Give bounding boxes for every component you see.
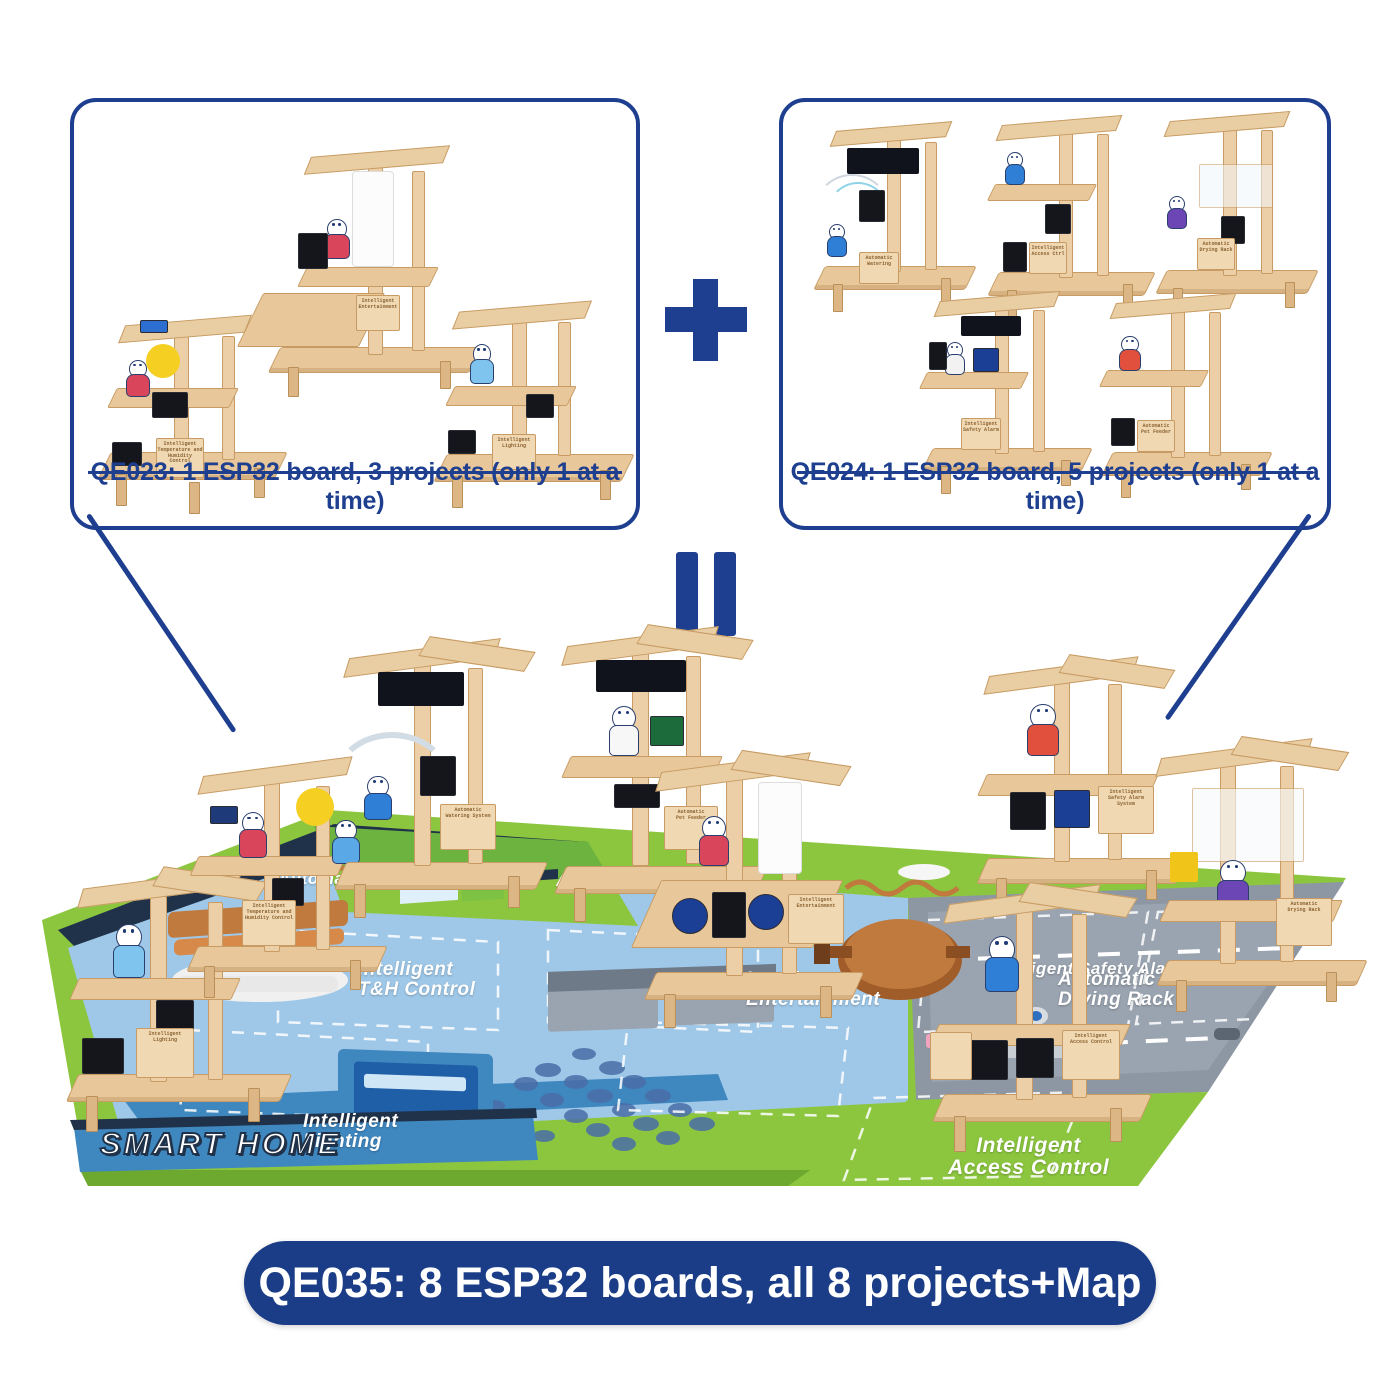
callout-qe023-label: QE023: 1 ESP32 board, 3 projects (only 1… [74, 458, 636, 516]
map-kit-access-control: IntelligentAccess Control [924, 880, 1154, 1150]
equals-operator: = [672, 552, 752, 636]
equals-bar-2 [714, 552, 736, 636]
kit-tag-th: IntelligentTemperature andHumidity Contr… [242, 900, 296, 946]
character-figure [124, 360, 150, 396]
smart-home-play-map: A Automatic Watering System Automatic Pe… [28, 630, 1372, 1200]
map-kit-watering: AutomaticWatering System [328, 636, 548, 916]
kit-tag-access: IntelligentAccess Control [1062, 1030, 1120, 1080]
callout-qe024: AutomaticWatering IntelligentAccess Ctrl [779, 98, 1331, 530]
product-banner-text: QE035: 8 ESP32 boards, all 8 projects+Ma… [258, 1259, 1141, 1308]
kit-tag-drying: AutomaticDrying Rack [1276, 898, 1332, 946]
product-banner: QE035: 8 ESP32 boards, all 8 projects+Ma… [244, 1241, 1156, 1325]
callout-qe024-label: QE024: 1 ESP32 board, 5 projects (only 1… [783, 458, 1327, 516]
plus-operator: + [655, 270, 755, 370]
map-kit-entertainment: IntelligentEntertainment [636, 750, 866, 1020]
kit-tag-alarm: IntelligentSafety AlarmSystem [1098, 786, 1154, 834]
equals-bar-1 [676, 552, 698, 636]
map-kit-drying-rack: AutomaticDrying Rack [1148, 748, 1368, 1008]
kit-tag-entertainment: IntelligentEntertainment [788, 894, 844, 944]
kit-tag-lighting: IntelligentLighting [136, 1028, 194, 1078]
map-title: SMART HOME [100, 1126, 341, 1162]
plus-vertical-bar [693, 279, 718, 361]
kit-tag-watering: AutomaticWatering System [440, 804, 496, 850]
callout-qe023: IntelligentTemperature andHumidity Contr… [70, 98, 640, 530]
